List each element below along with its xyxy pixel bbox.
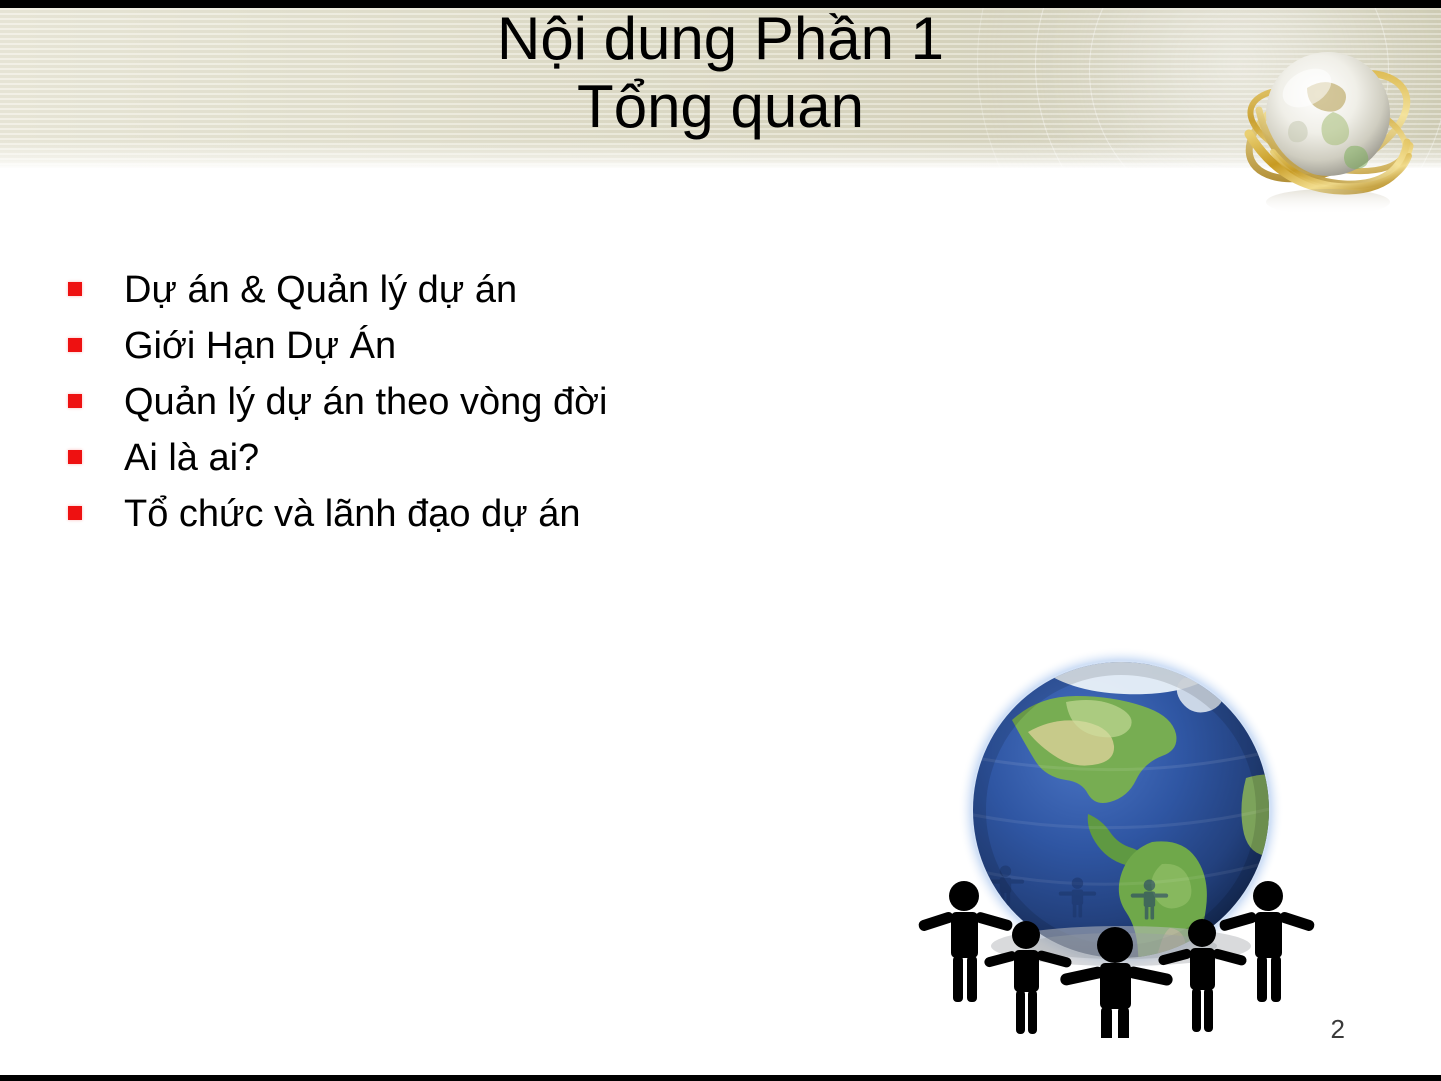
bullet-marker-icon [68,282,82,296]
list-item-label: Giới Hạn Dự Án [124,320,396,372]
list-item[interactable]: Tổ chức và lãnh đạo dự án [68,488,968,544]
list-item-label: Dự án & Quản lý dự án [124,264,517,316]
header-band [0,8,1441,168]
bullet-marker-icon [68,338,82,352]
bullet-marker-icon [68,394,82,408]
list-item-label: Quản lý dự án theo vòng đời [124,376,607,428]
slide-number: 2 [1331,1014,1345,1045]
list-item-label: Ai là ai? [124,432,259,484]
presentation-slide: Nội dung Phần 1 Tổng quan [0,0,1441,1081]
list-item[interactable]: Quản lý dự án theo vòng đời [68,376,968,432]
bottom-edge-rule [0,1075,1441,1081]
bullet-list: Dự án & Quản lý dự án Giới Hạn Dự Án Quả… [68,264,968,544]
earth-globe-with-people-holding-hands-icon [916,628,1326,1038]
globe-with-gold-rings-icon [1233,26,1423,226]
list-item[interactable]: Ai là ai? [68,432,968,488]
top-edge-rule [0,0,1441,8]
list-item[interactable]: Giới Hạn Dự Án [68,320,968,376]
bullet-marker-icon [68,506,82,520]
bullet-marker-icon [68,450,82,464]
list-item[interactable]: Dự án & Quản lý dự án [68,264,968,320]
list-item-label: Tổ chức và lãnh đạo dự án [124,488,580,540]
